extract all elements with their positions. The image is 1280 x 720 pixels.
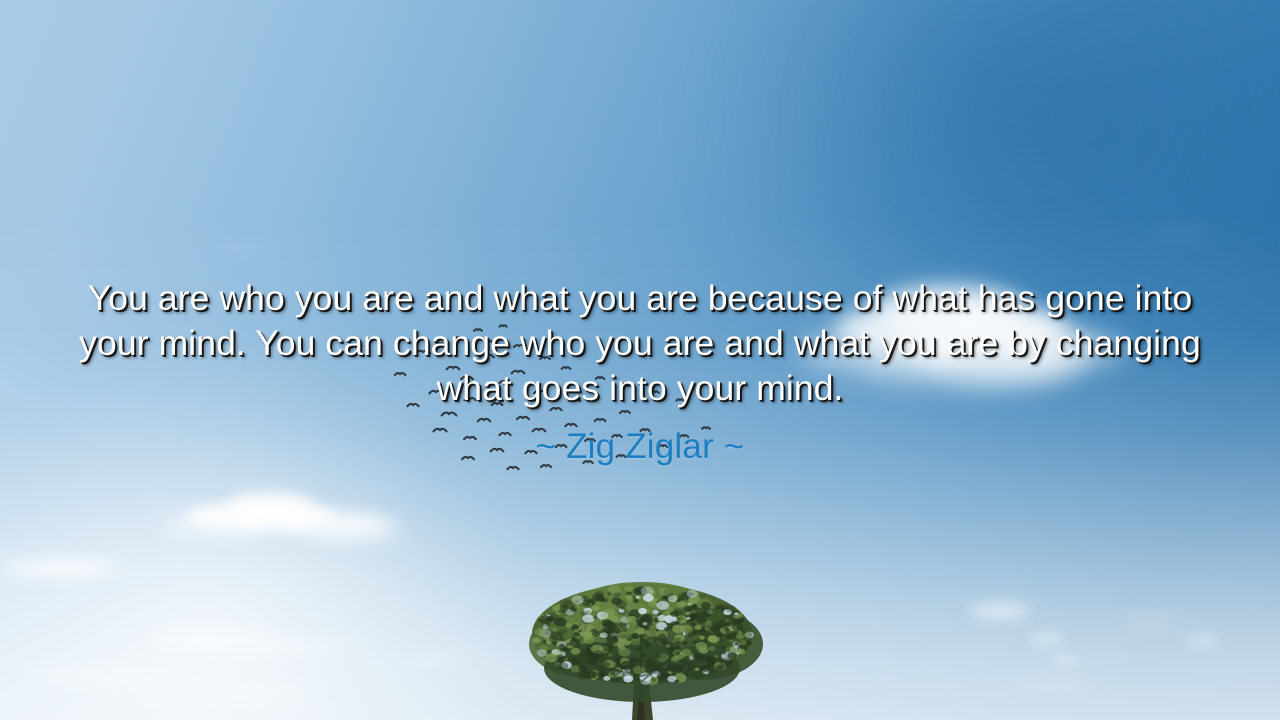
quote-block: You are who you are and what you are bec…: [0, 276, 1280, 469]
quote-author: ~ Zig Ziglar ~: [0, 425, 1280, 469]
quote-text: You are who you are and what you are bec…: [50, 276, 1230, 411]
quote-image-canvas: You are who you are and what you are bec…: [0, 0, 1280, 720]
